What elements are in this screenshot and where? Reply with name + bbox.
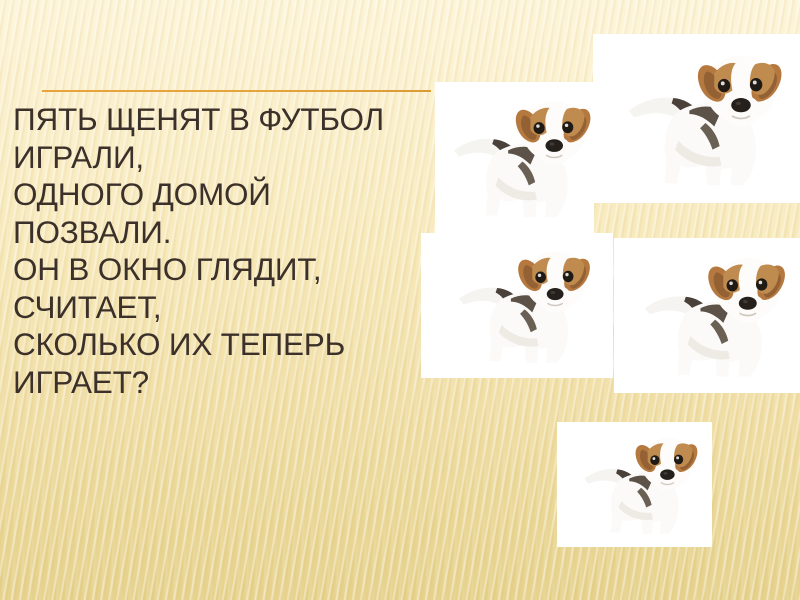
- puppy-photo-2: [593, 34, 800, 203]
- puppy-dog-icon: [435, 82, 594, 233]
- puppy-photo-5: [557, 422, 712, 547]
- puppy-dog-icon: [593, 34, 800, 203]
- title-divider-rule: [42, 90, 431, 92]
- page-title: Пять щенят в футбол играли, Одного домой…: [13, 101, 433, 401]
- slide-canvas: Пять щенят в футбол играли, Одного домой…: [0, 0, 800, 600]
- puppy-photo-3: [421, 233, 613, 378]
- puppy-photo-4: [614, 238, 800, 393]
- puppy-dog-icon: [557, 422, 712, 547]
- puppy-dog-icon: [614, 238, 800, 393]
- puppy-photo-1: [435, 82, 594, 233]
- puppy-dog-icon: [421, 233, 613, 378]
